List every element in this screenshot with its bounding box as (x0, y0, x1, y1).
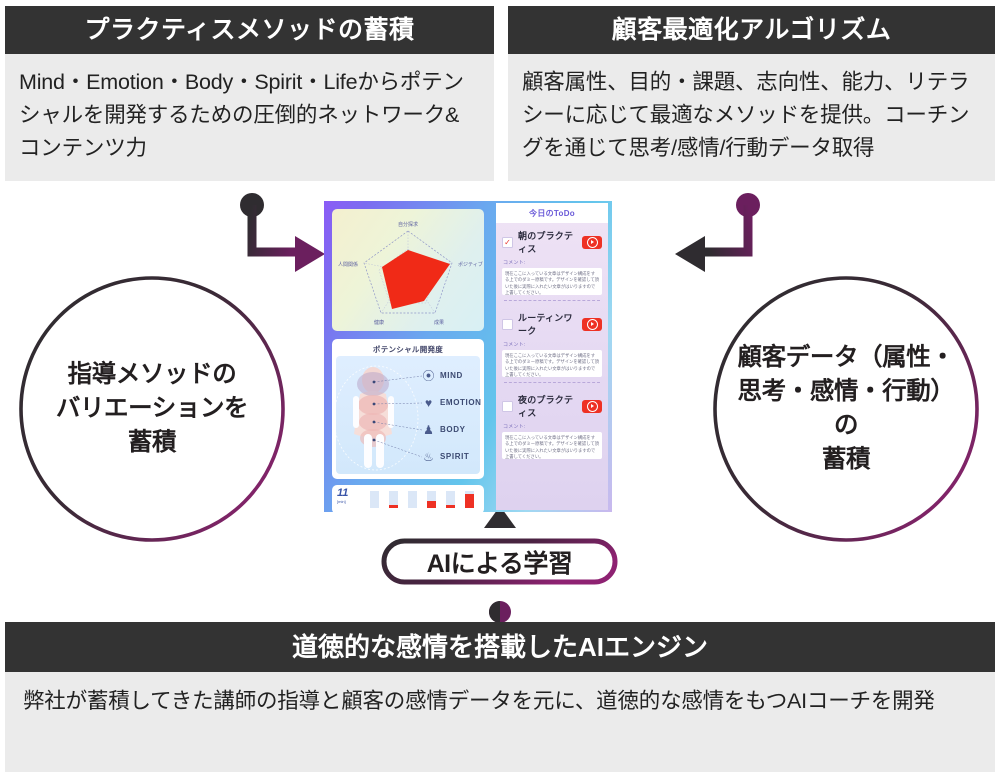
panel-left-title: プラクティスメソッドの蓄積 (5, 6, 494, 54)
panel-right-body: 顧客属性、目的・課題、志向性、能力、リテラシーに応じて最適なメソッドを提供。コー… (508, 54, 995, 175)
play-icon[interactable] (582, 318, 602, 331)
body-icon: ♟ (422, 423, 435, 436)
panel-right-title: 顧客最適化アルゴリズム (508, 6, 995, 54)
radar-chart: 自分探求 ポジティブ 成果 健康 人間関係 (332, 209, 484, 331)
radar-label-2: 成果 (434, 319, 444, 326)
todo-label: 朝のプラクティス (518, 229, 577, 255)
bar-chart-card: 11 [min] (332, 485, 484, 512)
spirit-icon: ♨ (422, 450, 435, 463)
metric-name: EMOTION (440, 398, 482, 407)
todo-checkbox[interactable]: ✓ (502, 237, 513, 248)
mind-icon: ⦿ (422, 369, 435, 382)
ai-learning-pill: AIによる学習 (382, 539, 617, 584)
todo-header: 今日のToDo (496, 203, 608, 223)
play-icon[interactable] (582, 236, 602, 249)
app-screen-right: 今日のToDo ✓ 朝のプラクティス コメント: 現在ここに入っている文章はデザ… (496, 203, 608, 510)
panel-left-body: Mind・Emotion・Body・Spirit・Lifeからポテンシャルを開発… (5, 54, 494, 175)
app-screen-left: 自分探求 ポジティブ 成果 健康 人間関係 ポテンシャル開発度 (332, 203, 484, 510)
radar-label-3: 健康 (374, 319, 384, 326)
comment-body[interactable]: 現在ここに入っている文章はデザイン構成をする上でのダミー原稿です。デザインを確認… (502, 432, 602, 459)
panel-bottom-title: 道徳的な感情を搭載したAIエンジン (5, 622, 995, 672)
comment-label: コメント: (503, 341, 602, 348)
circle-method-variation: 指導メソッドのバリエーションを蓄積 (18, 275, 286, 543)
pill-label: AIによる学習 (382, 539, 617, 584)
circle-left-label: 指導メソッドのバリエーションを蓄積 (18, 275, 286, 543)
todo-item[interactable]: ✓ 朝のプラクティス コメント: 現在ここに入っている文章はデザイン構成をする上… (496, 223, 608, 305)
circle-right-label: 顧客データ（属性・思考・感情・行動）の蓄積 (712, 275, 980, 543)
bar-chart (332, 485, 484, 512)
divider (504, 300, 600, 301)
potential-body: ⦿ MIND 37% ♥ EMOTION 65% ♟ BODY 42% (336, 356, 480, 474)
circle-customer-data: 顧客データ（属性・思考・感情・行動）の蓄積 (712, 275, 980, 543)
comment-body[interactable]: 現在ここに入っている文章はデザイン構成をする上でのダミー原稿です。デザインを確認… (502, 350, 602, 377)
panel-customer-algorithm: 顧客最適化アルゴリズム 顧客属性、目的・課題、志向性、能力、リテラシーに応じて最… (508, 6, 995, 181)
metric-name: SPIRIT (440, 452, 469, 461)
metric-row: ♥ EMOTION 65% (422, 396, 482, 409)
radar-label-4: 人間関係 (338, 261, 358, 268)
comment-label: コメント: (503, 259, 602, 266)
diagram-canvas: プラクティスメソッドの蓄積 Mind・Emotion・Body・Spirit・L… (0, 0, 1000, 777)
panel-practice-method: プラクティスメソッドの蓄積 Mind・Emotion・Body・Spirit・L… (5, 6, 494, 181)
metric-name: BODY (440, 425, 466, 434)
comment-label: コメント: (503, 423, 602, 430)
panel-bottom-body: 弊社が蓄積してきた講師の指導と顧客の感情データを元に、道徳的な感情をもつAIコー… (5, 672, 995, 731)
todo-checkbox[interactable] (502, 401, 513, 412)
potential-title: ポテンシャル開発度 (332, 339, 484, 355)
radar-label-1: ポジティブ (458, 261, 483, 268)
play-icon[interactable] (582, 400, 602, 413)
panel-ai-engine: 道徳的な感情を搭載したAIエンジン 弊社が蓄積してきた講師の指導と顧客の感情デー… (5, 622, 995, 772)
todo-item[interactable]: ルーティンワーク コメント: 現在ここに入っている文章はデザイン構成をする上での… (496, 305, 608, 387)
connector-right (675, 193, 760, 272)
potential-card: ポテンシャル開発度 (332, 339, 484, 479)
divider (504, 382, 600, 383)
radar-chart-card: 自分探求 ポジティブ 成果 健康 人間関係 (332, 209, 484, 331)
radar-label-0: 自分探求 (398, 221, 418, 228)
metric-name: MIND (440, 371, 463, 380)
connector-left (240, 193, 325, 272)
heart-icon: ♥ (422, 396, 435, 409)
todo-label: 夜のプラクティス (518, 393, 577, 419)
todo-label: ルーティンワーク (518, 311, 577, 337)
app-screenshot: 自分探求 ポジティブ 成果 健康 人間関係 ポテンシャル開発度 (324, 201, 612, 512)
comment-body[interactable]: 現在ここに入っている文章はデザイン構成をする上でのダミー原稿です。デザインを確認… (502, 268, 602, 295)
todo-checkbox[interactable] (502, 319, 513, 330)
metric-row: ⦿ MIND 37% (422, 369, 463, 382)
metric-row: ♟ BODY 42% (422, 423, 466, 436)
todo-item[interactable]: 夜のプラクティス コメント: 現在ここに入っている文章はデザイン構成をする上での… (496, 387, 608, 463)
metric-row: ♨ SPIRIT 52% (422, 450, 469, 463)
